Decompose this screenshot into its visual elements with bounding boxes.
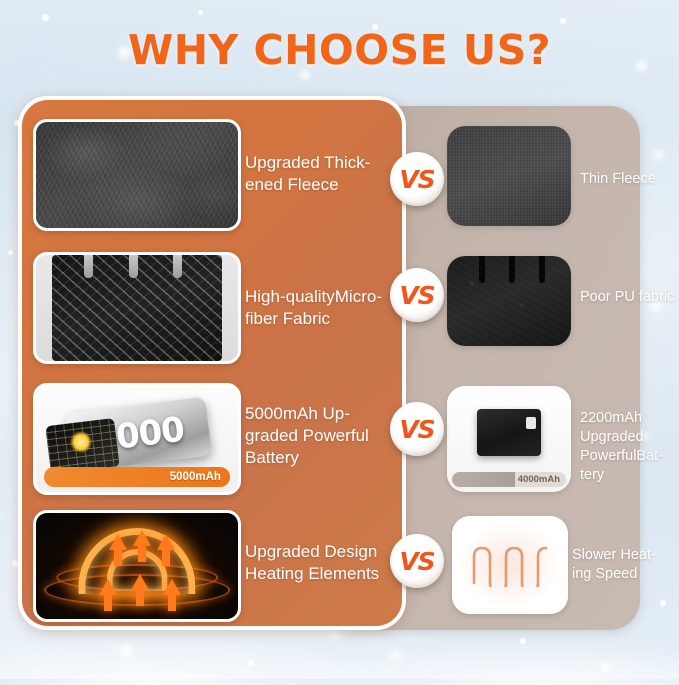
row-3-competitor-label: 2200mAh Upgraded PowerfulBat-tery (580, 409, 679, 484)
vs-badge-2-label: VS (399, 281, 434, 310)
row-1-competitor-label: Thin Fleece (580, 170, 679, 189)
vs-badge-4: VS (390, 534, 444, 588)
vs-badge-1-label: VS (399, 165, 434, 194)
vs-badge-2: VS (390, 268, 444, 322)
competitor-capacity-bar: 4000mAh (452, 472, 566, 487)
row-3-our-image: 5000 5000mAh (33, 383, 241, 495)
row-1-competitor-image (447, 126, 571, 226)
vs-badge-3: VS (390, 402, 444, 456)
row-3-competitor-image: 4000mAh (447, 386, 571, 492)
row-3-our-label: 5000mAh Up-graded Powerful Battery (245, 403, 395, 468)
row-4-our-image (33, 510, 241, 622)
row-2-competitor-label: Poor PU fabric (580, 288, 679, 307)
row-2-our-image (33, 252, 241, 364)
page-title: WHY CHOOSE US? (0, 26, 679, 74)
row-2-competitor-image (447, 256, 571, 346)
row-2-our-label: High-qualityMicro-fiber Fabric (245, 286, 395, 330)
vs-badge-4-label: VS (399, 547, 434, 576)
row-4-competitor-label: Slower Heat-ing Speed (572, 546, 672, 584)
our-capacity-label: 5000mAh (170, 471, 230, 483)
vs-badge-3-label: VS (399, 415, 434, 444)
row-4-competitor-image (452, 516, 568, 614)
row-1-our-image (33, 119, 241, 231)
heating-coil-icon (468, 543, 552, 587)
vs-badge-1: VS (390, 152, 444, 206)
row-4-our-label: Upgraded Design Heating Elements (245, 541, 395, 585)
competitor-capacity-label: 4000mAh (518, 474, 566, 485)
row-1-our-label: Upgraded Thick-ened Fleece (245, 152, 395, 196)
our-capacity-bar: 5000mAh (44, 467, 230, 487)
